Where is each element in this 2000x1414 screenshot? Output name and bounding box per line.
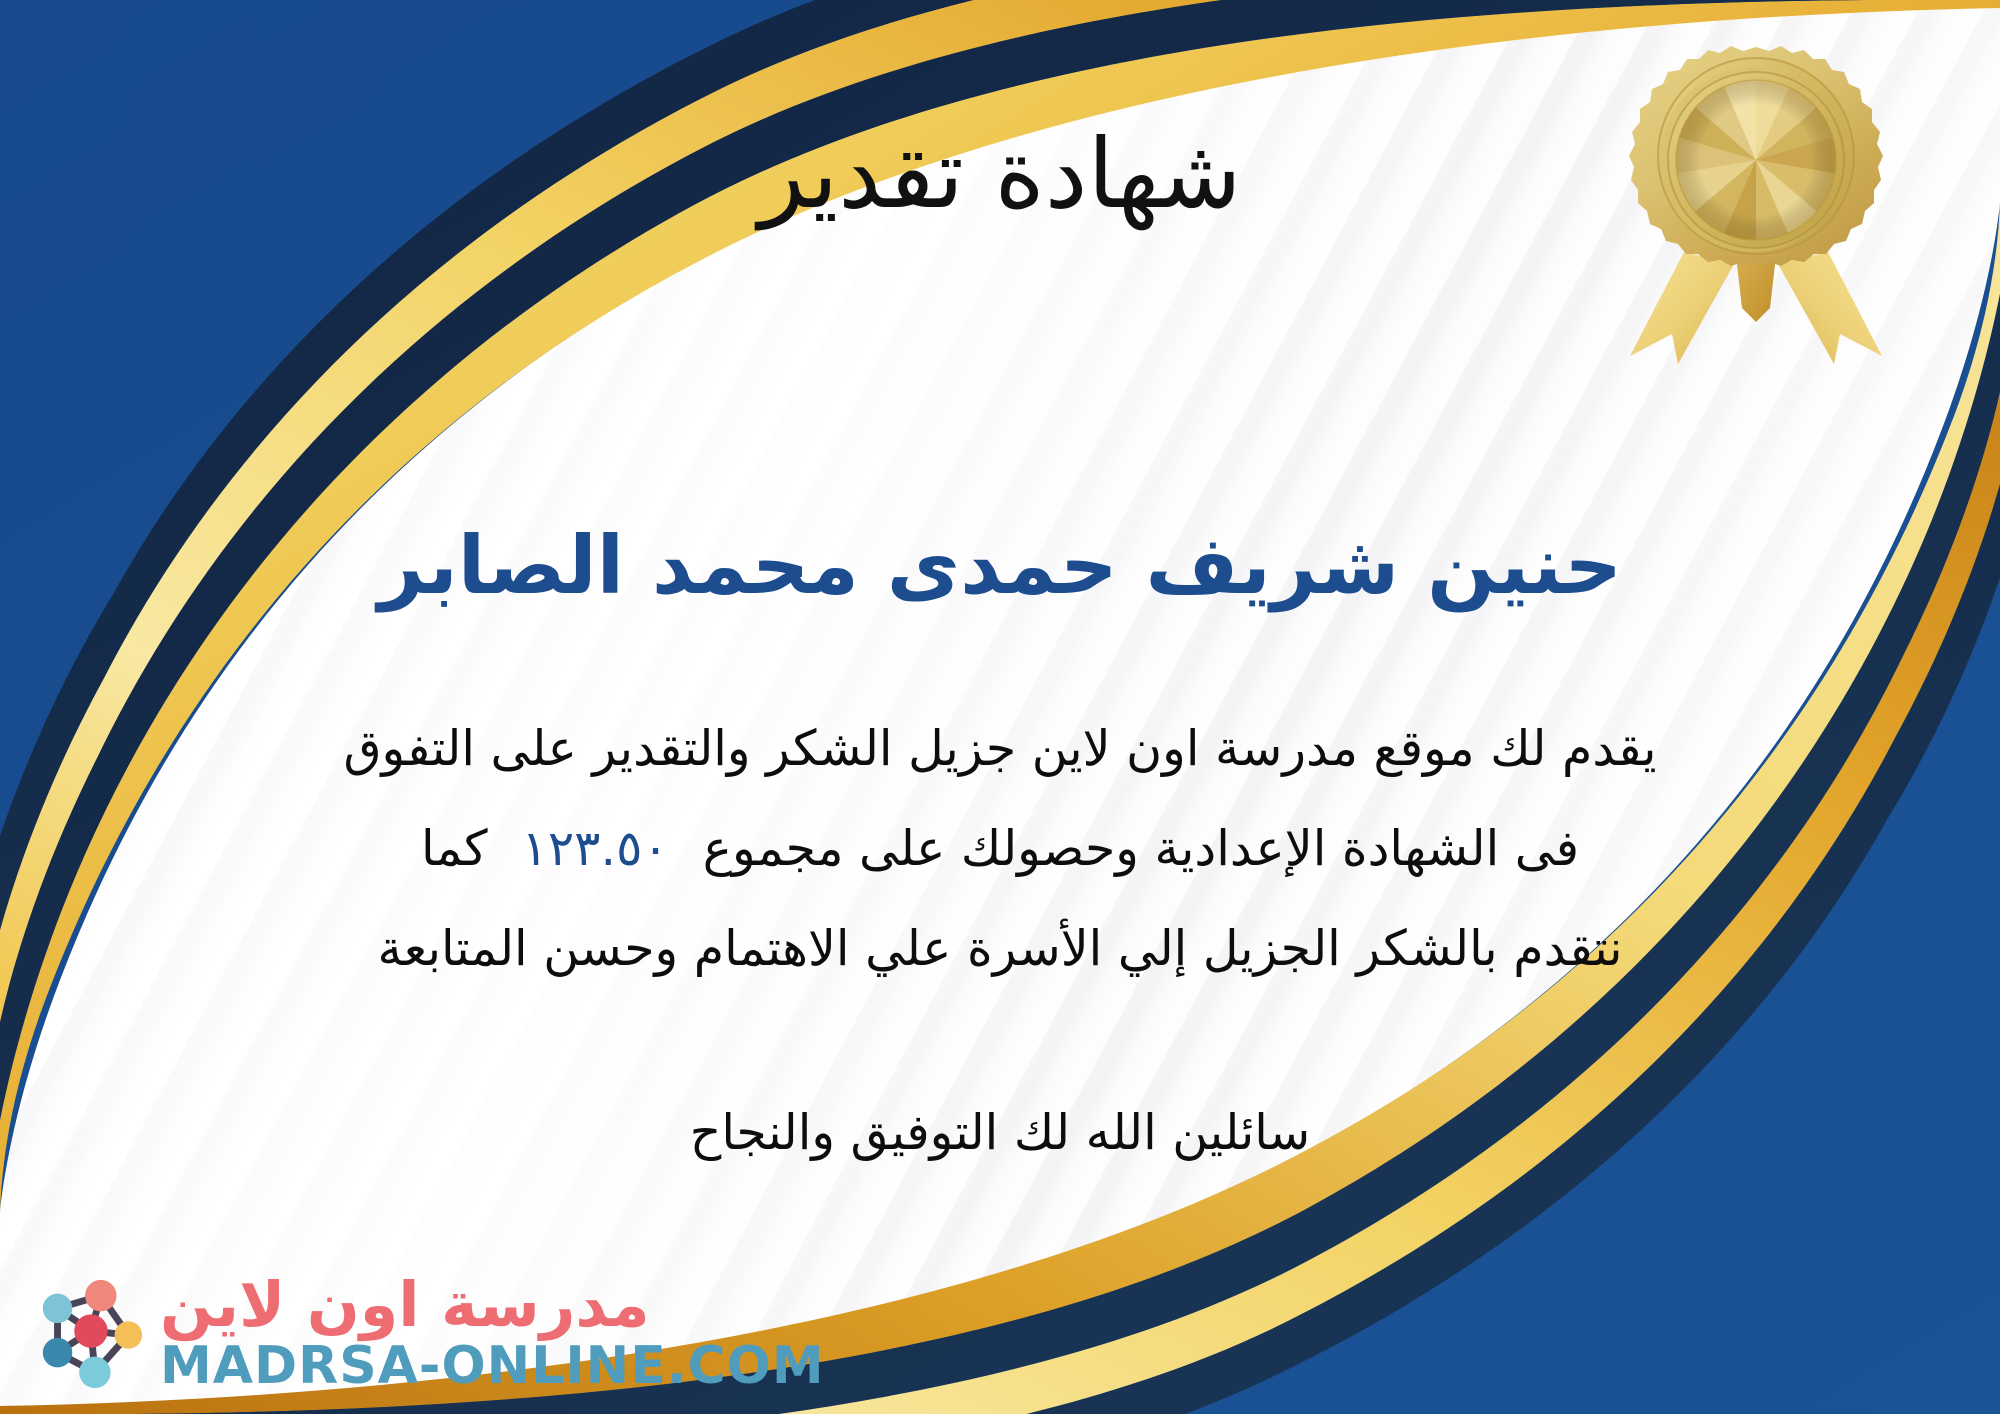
body-line-2-suffix: كما: [421, 820, 488, 877]
closing-wish: سائلين الله لك التوفيق والنجاح: [0, 1106, 2000, 1160]
certificate-title: شهادة تقدير: [0, 118, 2000, 231]
body-line-2-prefix: فى الشهادة الإعدادية وحصولك على مجموع: [703, 820, 1579, 877]
node-light-blue-bottom: [79, 1357, 110, 1388]
node-amber-right: [115, 1321, 143, 1349]
brand-domain: MADRSA-ONLINE.COM: [160, 1340, 825, 1392]
score-value: ١٢٣.٥٠: [488, 820, 703, 877]
body-line-2: فى الشهادة الإعدادية وحصولك على مجموع١٢٣…: [60, 824, 1940, 874]
node-salmon-top: [85, 1280, 116, 1311]
network-nodes-icon: [30, 1274, 148, 1392]
certificate-canvas: شهادة تقدير حنين شريف حمدى محمد الصابر ي…: [0, 0, 2000, 1414]
body-line-1: يقدم لك موقع مدرسة اون لاين جزيل الشكر و…: [60, 724, 1940, 774]
certificate-content: شهادة تقدير حنين شريف حمدى محمد الصابر ي…: [0, 0, 2000, 1414]
brand-logo[interactable]: مدرسة اون لاين MADRSA-ONLINE.COM: [30, 1274, 825, 1392]
node-red-center: [74, 1314, 107, 1347]
recipient-name: حنين شريف حمدى محمد الصابر: [0, 516, 2000, 616]
body-line-3: نتقدم بالشكر الجزيل إلي الأسرة علي الاهت…: [60, 924, 1940, 974]
brand-name-arabic: مدرسة اون لاين: [160, 1274, 650, 1336]
node-dark-teal-bottom-left: [43, 1338, 73, 1368]
certificate-body: يقدم لك موقع مدرسة اون لاين جزيل الشكر و…: [60, 724, 1940, 1024]
node-light-blue-top-left: [43, 1294, 73, 1324]
brand-text: مدرسة اون لاين MADRSA-ONLINE.COM: [160, 1274, 825, 1392]
